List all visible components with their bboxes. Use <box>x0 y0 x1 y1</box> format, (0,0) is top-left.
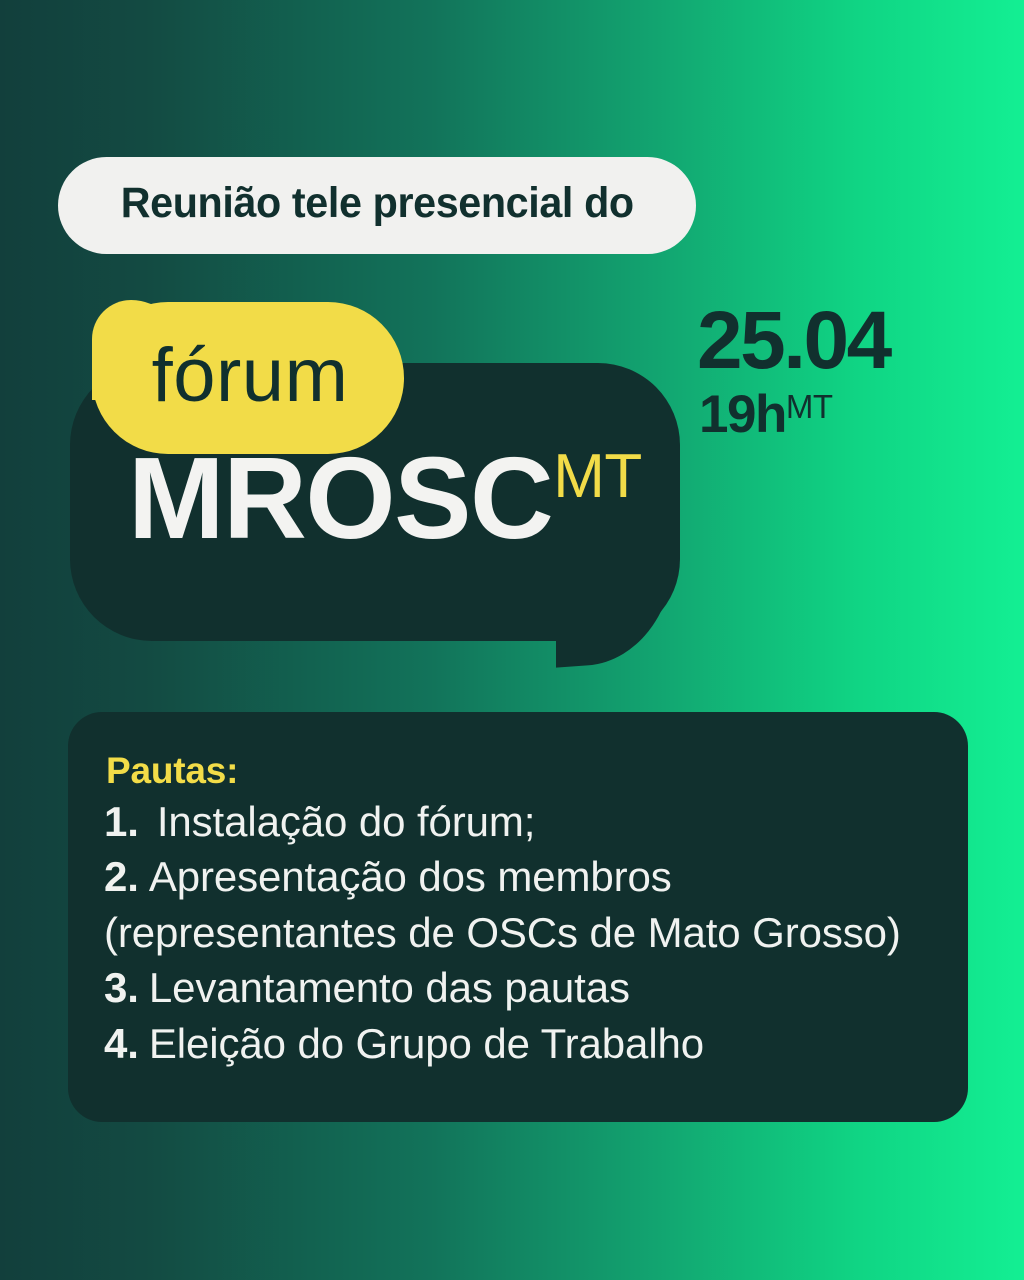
agenda-item-note: (representantes de OSCs de Mato Grosso) <box>104 905 932 960</box>
agenda-item-text: Levantamento das pautas <box>149 960 630 1015</box>
mrosc-state-superscript: MT <box>553 446 642 508</box>
agenda-panel: Pautas: 1. Instalação do fórum; 2. Apres… <box>68 712 968 1122</box>
poster-canvas: Reunião tele presencial do fórum MROSC M… <box>0 0 1024 1280</box>
agenda-item: 4. Eleição do Grupo de Trabalho <box>104 1016 932 1071</box>
event-date: 25.04 <box>697 300 890 382</box>
agenda-heading: Pautas: <box>106 750 932 792</box>
mrosc-wordmark: MROSC MT <box>128 440 642 556</box>
agenda-item: 1. Instalação do fórum; <box>104 794 932 849</box>
headline-text: Reunião tele presencial do <box>120 179 633 228</box>
event-time-row: 19h MT <box>699 388 890 441</box>
event-date-block: 25.04 19h MT <box>697 300 890 441</box>
event-time: 19h <box>699 388 786 441</box>
mrosc-bubble-tail <box>556 570 676 670</box>
agenda-list: 1. Instalação do fórum; 2. Apresentação … <box>104 794 932 1071</box>
agenda-item-number: 1. <box>104 794 139 849</box>
agenda-item-text: Eleição do Grupo de Trabalho <box>149 1016 704 1071</box>
agenda-item-text: Instalação do fórum; <box>157 794 536 849</box>
agenda-item-number: 3. <box>104 960 139 1015</box>
agenda-item: 2. Apresentação dos membros <box>104 849 932 904</box>
agenda-item: 3. Levantamento das pautas <box>104 960 932 1015</box>
agenda-item-number: 4. <box>104 1016 139 1071</box>
agenda-item-text: Apresentação dos membros <box>149 849 672 904</box>
mrosc-acronym: MROSC <box>128 440 552 556</box>
forum-word: fórum <box>152 332 349 419</box>
agenda-item-number: 2. <box>104 849 139 904</box>
forum-bubble: fórum <box>92 302 404 454</box>
event-timezone: MT <box>786 390 833 423</box>
headline-pill: Reunião tele presencial do <box>58 157 696 254</box>
